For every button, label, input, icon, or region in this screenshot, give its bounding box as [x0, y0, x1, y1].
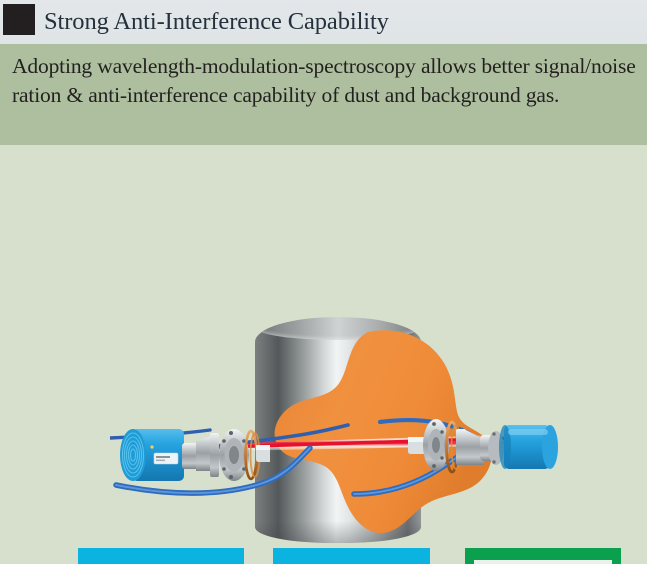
filled-square-icon [3, 4, 35, 35]
description-band: Adopting wavelength-modulation-spectrosc… [0, 44, 647, 145]
second-harmonic-plot-area [474, 560, 612, 564]
illustration-panel [0, 145, 647, 564]
page-title: Strong Anti-Interference Capability [44, 2, 389, 42]
second-harmonic-output-box [465, 548, 621, 564]
description-text: Adopting wavelength-modulation-spectrosc… [12, 52, 641, 109]
second-harmonic-trace [474, 560, 612, 564]
laser-transmitter-unit [118, 413, 270, 501]
slide-root: Strong Anti-Interference Capability Adop… [0, 0, 647, 564]
slide-header: Strong Anti-Interference Capability [0, 0, 647, 44]
sawtooth-waveform-box [78, 548, 244, 564]
laser-receiver-unit [408, 403, 558, 493]
sine-waveform-box [273, 548, 430, 564]
